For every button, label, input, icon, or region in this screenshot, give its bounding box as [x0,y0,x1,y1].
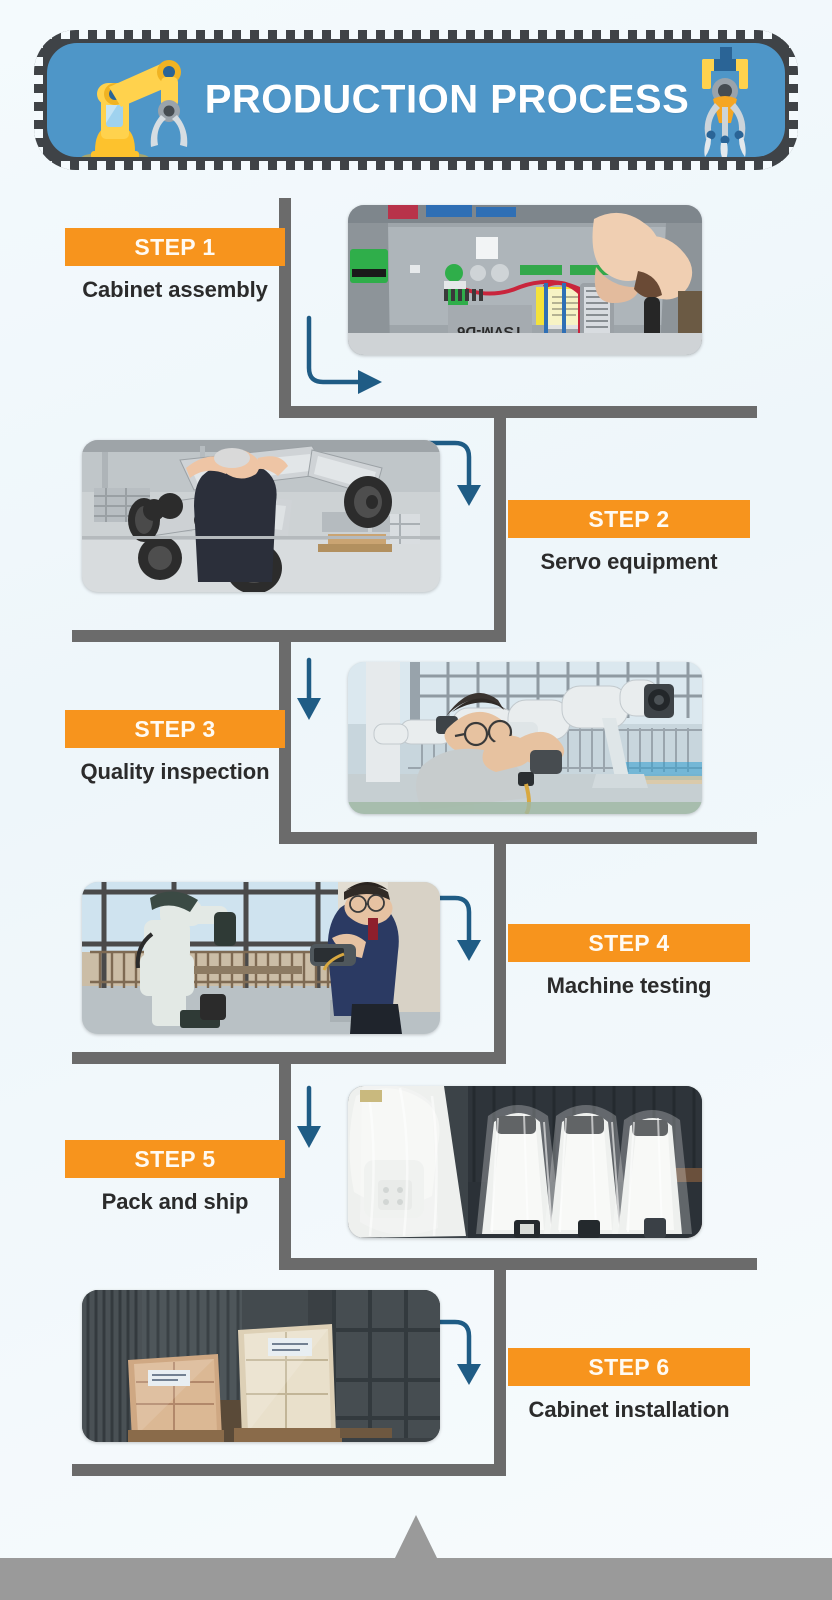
step-label-3: STEP 3 Quality inspection [65,710,285,785]
step-chip-1: STEP 1 [65,228,285,266]
monitor-stand-base [0,1558,832,1600]
step-chip-3: STEP 3 [65,710,285,748]
header-banner: PRODUCTION PROCESS [34,30,798,170]
step-label-5: STEP 5 Pack and ship [65,1140,285,1215]
step-photo-5 [348,1086,702,1238]
flow-connector-gray [72,198,757,1476]
arrowhead-6 [457,1364,481,1385]
arrowhead-3 [297,698,321,720]
step-title-2: Servo equipment [508,549,750,575]
page-title: PRODUCTION PROCESS [187,78,707,123]
step-photo-1: TSVM-D6 [348,205,702,355]
step-photo-4 [82,882,440,1034]
step-photo-2 [82,440,440,592]
step-title-3: Quality inspection [65,759,285,785]
step-chip-6: STEP 6 [508,1348,750,1386]
arrowhead-1 [358,370,382,394]
step-title-6: Cabinet installation [508,1397,750,1423]
step-photo-3 [348,662,702,814]
step-chip-5: STEP 5 [65,1140,285,1178]
step-title-1: Cabinet assembly [65,277,285,303]
step-label-4: STEP 4 Machine testing [508,924,750,999]
step-chip-2: STEP 2 [508,500,750,538]
step-label-1: STEP 1 Cabinet assembly [65,228,285,303]
arrowhead-4 [457,940,481,961]
step-label-6: STEP 6 Cabinet installation [508,1348,750,1423]
arrowhead-2 [457,485,481,506]
banner-inner-panel: PRODUCTION PROCESS [47,43,785,157]
monitor-stand-neck [394,1515,438,1560]
arrowhead-5 [297,1126,321,1148]
step-label-2: STEP 2 Servo equipment [508,500,750,575]
step-title-4: Machine testing [508,973,750,999]
step-chip-4: STEP 4 [508,924,750,962]
step-title-5: Pack and ship [65,1189,285,1215]
step-photo-6 [82,1290,440,1442]
